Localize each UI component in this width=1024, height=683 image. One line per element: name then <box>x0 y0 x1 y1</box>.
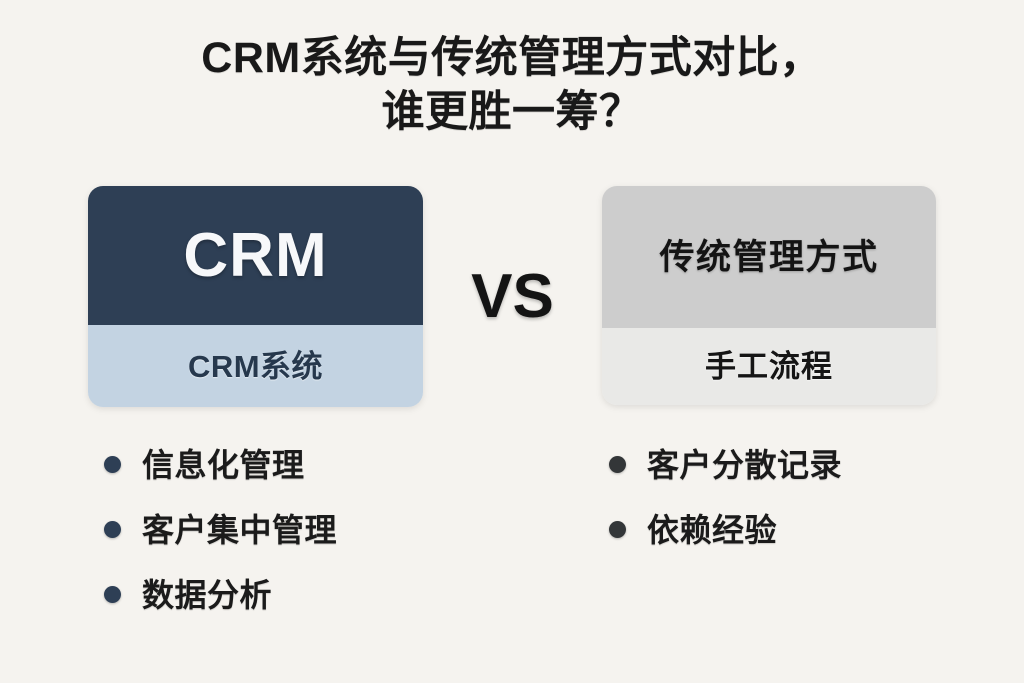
crm-feature-label: 信息化管理 <box>142 449 305 481</box>
crm-card-subtitle: CRM系统 <box>188 351 323 382</box>
list-item: 客户集中管理 <box>104 497 337 562</box>
bullet-icon <box>609 456 626 473</box>
crm-feature-label: 客户集中管理 <box>142 514 337 546</box>
crm-card-headline: CRM <box>183 225 327 287</box>
crm-feature-label: 数据分析 <box>142 579 272 611</box>
page-title: CRM系统与传统管理方式对比， 谁更胜一筹？ <box>0 32 1024 140</box>
list-item: 信息化管理 <box>104 432 337 497</box>
comparison-cards-row: CRM CRM系统 VS 传统管理方式 手工流程 <box>0 186 1024 408</box>
list-item: 客户分散记录 <box>609 432 842 497</box>
traditional-card-footer: 手工流程 <box>602 328 936 405</box>
page-title-line-1: CRM系统与传统管理方式对比， <box>0 32 1024 86</box>
list-item: 数据分析 <box>104 562 337 627</box>
traditional-card-headline: 传统管理方式 <box>659 240 878 275</box>
bullet-icon <box>104 521 121 538</box>
traditional-feature-label: 依赖经验 <box>647 514 777 546</box>
crm-feature-list: 信息化管理 客户集中管理 数据分析 <box>104 432 337 627</box>
crm-card-footer: CRM系统 <box>88 325 423 407</box>
bullet-icon <box>104 456 121 473</box>
traditional-card-header: 传统管理方式 <box>602 186 936 328</box>
traditional-feature-label: 客户分散记录 <box>647 449 842 481</box>
vs-divider-label: VS <box>423 186 602 407</box>
crm-card: CRM CRM系统 <box>88 186 423 407</box>
traditional-feature-list: 客户分散记录 依赖经验 <box>609 432 842 562</box>
page-title-line-2: 谁更胜一筹？ <box>0 86 1024 140</box>
crm-card-header: CRM <box>88 186 423 325</box>
bullet-icon <box>104 586 121 603</box>
traditional-card: 传统管理方式 手工流程 <box>602 186 936 405</box>
traditional-card-subtitle: 手工流程 <box>705 351 833 382</box>
bullet-icon <box>609 521 626 538</box>
list-item: 依赖经验 <box>609 497 842 562</box>
feature-lists: 信息化管理 客户集中管理 数据分析 客户分散记录 依赖经验 <box>0 432 1024 642</box>
comparison-poster: CRM系统与传统管理方式对比， 谁更胜一筹？ CRM CRM系统 VS 传统管理… <box>0 0 1024 683</box>
